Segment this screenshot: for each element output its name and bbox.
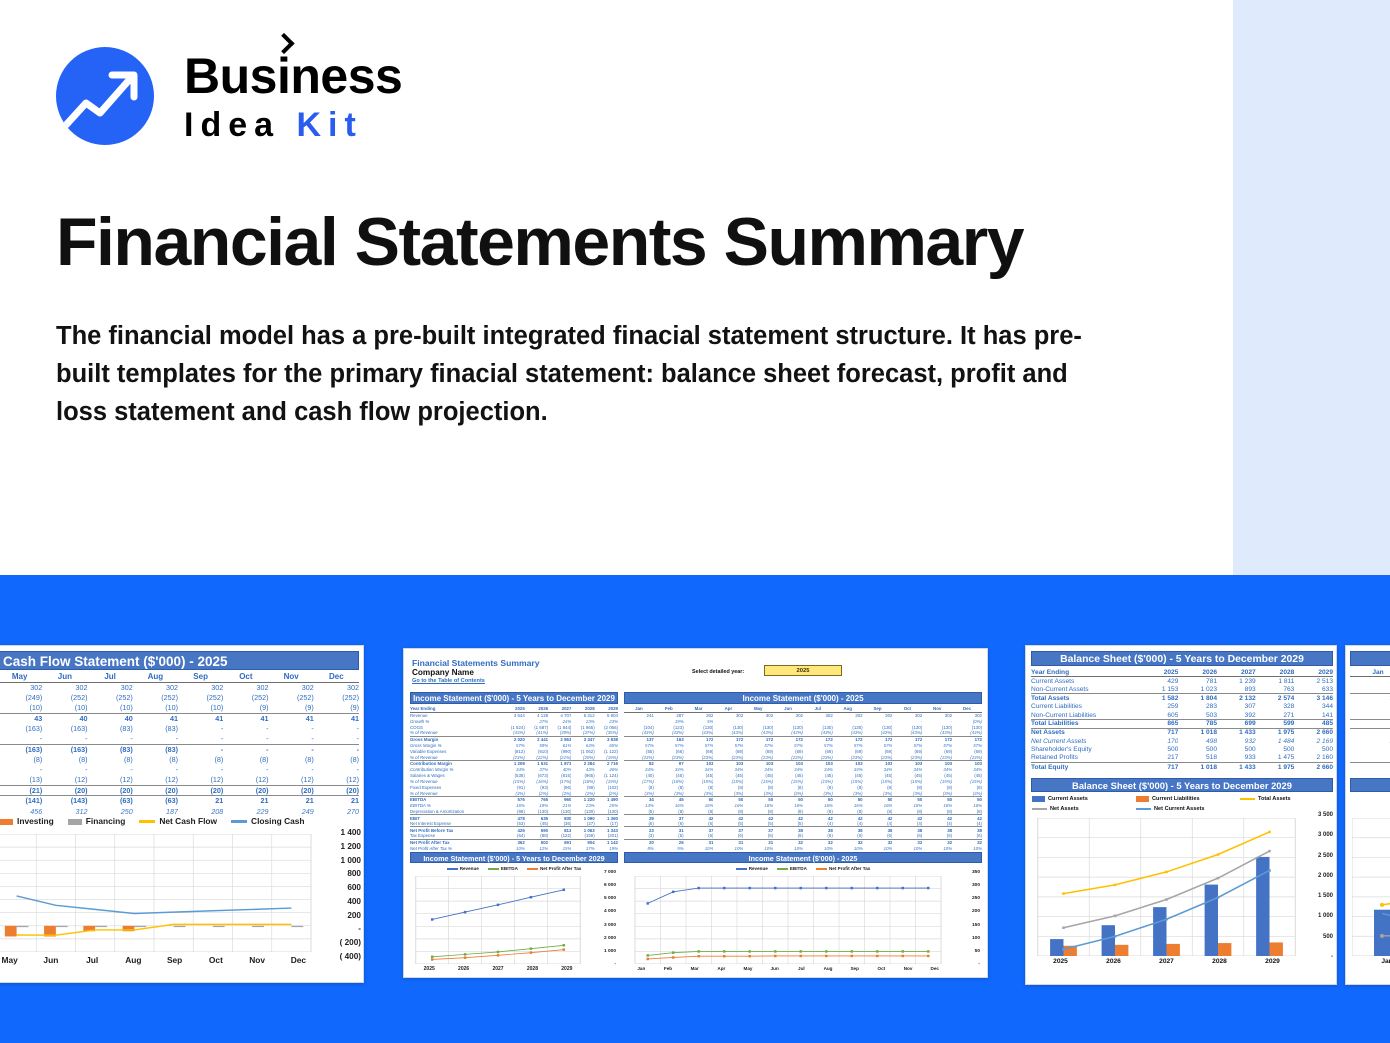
- legend-label: Revenue: [460, 866, 479, 871]
- table-of-contents-link[interactable]: Go to the Table of Contents: [412, 678, 485, 684]
- axis-tick-label: 100: [972, 936, 980, 941]
- balance-sheet-table-title: Balance Sheet ($'000) - 5 Years to Decem…: [1031, 651, 1333, 666]
- axis-tick-label: Apr: [708, 966, 735, 971]
- legend-item: Net Assets: [1032, 806, 1136, 812]
- legend-label: Financing: [86, 816, 126, 826]
- legend-item: Net Current Assets: [1136, 806, 1240, 812]
- workbook-title: Financial Statements Summary: [412, 658, 540, 668]
- table-row: (141)(143)(63)(63)21212121: [0, 796, 359, 806]
- legend-label: Net Cash Flow: [159, 816, 217, 826]
- balance-sheet-chart-plot: [1034, 818, 1299, 956]
- table-row: Net Profit After Tax %10%12%15%17%19%: [410, 845, 618, 851]
- axis-tick-label: 3 500: [1318, 812, 1333, 818]
- table-row: (8)(8)(8)(8)(8)(8)(8)(8): [0, 754, 359, 764]
- table-row: 500: [1350, 745, 1390, 754]
- axis-tick-label: Jul: [788, 966, 815, 971]
- table-row: Shareholder's Equity500500500500500: [1031, 745, 1333, 754]
- table-row: 512: [1350, 728, 1390, 737]
- table-row: 93: [1350, 702, 1390, 711]
- axis-tick-label: 200: [347, 911, 361, 920]
- legend-swatch: [816, 868, 827, 870]
- monthly-income-chart-legend: RevenueEBITDANet Profit After Tax: [624, 866, 982, 871]
- table-row: (13)(12)(12)(12)(12)(12)(12)(12): [0, 775, 359, 785]
- table-row: Current Liabilities259283307328344: [1031, 702, 1333, 711]
- axis-tick-label: Jul: [72, 955, 113, 969]
- legend-item: Current Liabilities: [1136, 796, 1240, 802]
- legend-label: Current Liabilities: [1152, 796, 1200, 802]
- cash-flow-x-axis: MayJunJulAugSepOctNovDec: [0, 955, 319, 969]
- axis-tick-label: 2028: [515, 966, 549, 972]
- axis-tick-label: Oct: [195, 955, 236, 969]
- axis-tick-label: Oct: [868, 966, 895, 971]
- cash-flow-month-header: Aug: [133, 672, 178, 682]
- table-row: Net Current Assets1704989321 4842 169: [1031, 737, 1333, 746]
- table-row: Salaries & Wages(538)(673)(815)(965)(1 1…: [410, 773, 618, 779]
- cash-flow-month-header: Jun: [42, 672, 87, 682]
- table-row: (10)(10)(10)(10)(10)(9)(9)(9): [0, 703, 359, 713]
- axis-tick-label: 2029: [550, 966, 584, 972]
- balance-sheet-x-axis: 20252026202720282029: [1034, 958, 1299, 965]
- screenshot-balance-sheet[interactable]: Balance Sheet ($'000) - 5 Years to Decem…: [1025, 645, 1337, 985]
- screenshot-cash-flow[interactable]: Cash Flow Statement ($'000) - 2025 MayJu…: [0, 645, 364, 983]
- legend-swatch: [68, 819, 82, 825]
- annual-income-x-axis: 20252026202720282029: [412, 966, 584, 972]
- annual-income-chart-title: Income Statement ($'000) - 5 Years to De…: [410, 852, 618, 863]
- axis-tick-label: Nov: [895, 966, 922, 971]
- axis-tick-label: 500: [1323, 934, 1333, 940]
- legend-label: EBITDA: [790, 866, 807, 871]
- legend-item: Net Cash Flow: [139, 816, 217, 826]
- axis-tick-label: Dec: [278, 955, 319, 969]
- legend-item: Revenue: [736, 866, 768, 871]
- table-row: (163)(163)(83)(83)----: [0, 723, 359, 733]
- balance-sheet-monthly-x-axis: Jan: [1352, 958, 1390, 965]
- legend-item: Net Profit After Tax: [527, 866, 581, 871]
- monthly-income-statement-table: JanFebMarAprMayJunJulAugSepOctNovDec2412…: [624, 706, 982, 851]
- upward-trend-arrow-icon: [56, 47, 154, 145]
- axis-tick-label: 800: [347, 869, 361, 878]
- legend-label: Total Assets: [1258, 796, 1291, 802]
- table-row: Retained Profits2175189331 4752 160: [1031, 754, 1333, 763]
- axis-tick-label: 50: [975, 949, 980, 954]
- axis-tick-label: Nov: [237, 955, 278, 969]
- table-row: Total Equity7171 0181 4331 9752 660: [1031, 763, 1333, 772]
- cash-flow-month-header: Jul: [88, 672, 133, 682]
- cash-flow-month-header: Oct: [223, 672, 268, 682]
- monthly-income-chart-title: Income Statement ($'000) - 2025: [624, 852, 982, 863]
- legend-label: Net Profit After Tax: [540, 866, 581, 871]
- legend-swatch: [527, 868, 538, 870]
- legend-label: Revenue: [749, 866, 768, 871]
- annual-income-y-axis: 7 0006 0005 0004 0003 0002 0001 000-: [586, 870, 618, 970]
- axis-tick-label: 2026: [1087, 958, 1140, 965]
- balance-sheet-chart-title: Balance Sheet ($'000) - 5 Years to Decem…: [1031, 778, 1333, 792]
- axis-tick-label: 400: [347, 897, 361, 906]
- page-title: Financial Statements Summary: [56, 205, 1176, 279]
- legend-item: Current Assets: [1032, 796, 1136, 802]
- table-row: --------: [0, 734, 359, 744]
- legend-item: Net Profit After Tax: [816, 866, 870, 871]
- legend-swatch: [1136, 796, 1149, 802]
- brand-name-primary: Business: [184, 49, 402, 103]
- monthly-income-y-axis: 35030025020015010050-: [950, 870, 982, 970]
- axis-tick-label: 2027: [481, 966, 515, 972]
- axis-tick-label: 5 000: [604, 896, 616, 901]
- cash-flow-month-header: Dec: [314, 672, 359, 682]
- legend-row: Net AssetsNet Current Assets: [1032, 804, 1332, 814]
- legend-label: Net Assets: [1050, 806, 1079, 812]
- page-description: The financial model has a pre-built inte…: [56, 317, 1096, 431]
- table-row: 12: [1350, 754, 1390, 763]
- axis-tick-label: Feb: [655, 966, 682, 971]
- legend-swatch: [1032, 808, 1047, 810]
- axis-tick-label: Sep: [154, 955, 195, 969]
- axis-tick-label: 1 200: [341, 842, 362, 851]
- axis-tick-label: Jun: [30, 955, 71, 969]
- table-row: Net Assets7171 0181 4331 9752 660: [1031, 728, 1333, 737]
- legend-item: Financing: [68, 816, 126, 826]
- balance-sheet-chart-legend: Current AssetsCurrent LiabilitiesTotal A…: [1032, 794, 1332, 814]
- axis-tick-label: 1 000: [341, 856, 362, 865]
- axis-tick-label: 2026: [446, 966, 480, 972]
- legend-swatch: [488, 868, 499, 870]
- legend-item: Closing Cash: [231, 816, 305, 826]
- brand-kit-text: Kit: [296, 106, 362, 144]
- company-name: Company Name: [412, 668, 474, 677]
- table-row: Non-Current Assets1 1531 023893763633: [1031, 685, 1333, 694]
- axis-tick-label: -: [1331, 954, 1333, 960]
- table-row: 692: [1350, 711, 1390, 720]
- legend-swatch: [0, 819, 13, 825]
- axis-tick-label: 2029: [1246, 958, 1299, 965]
- screenshot-balance-sheet-monthly[interactable]: Jan1 1741241 297936927865121 08150012512…: [1345, 645, 1390, 985]
- brand-name-secondary: Idea Kit: [184, 105, 402, 145]
- axis-tick-label: 6 000: [604, 883, 616, 888]
- table-header-row: MayJunJulAugSepOctNovDec: [0, 672, 359, 682]
- legend-swatch: [736, 868, 747, 870]
- hero-section: Business Idea Kit Financial Statements S…: [0, 0, 1390, 575]
- axis-tick-label: 1 400: [341, 828, 362, 837]
- legend-label: EBITDA: [501, 866, 518, 871]
- annual-income-statement-table: Year Ending20252026202720282029Revenue3 …: [410, 706, 618, 851]
- annual-income-chart-plot: [412, 876, 584, 964]
- monthly-income-statement-title: Income Statement ($'000) - 2025: [624, 692, 982, 704]
- balance-sheet-monthly-title: [1350, 651, 1390, 666]
- table-row: 124: [1350, 685, 1390, 694]
- table-row: 302302302302302302302302: [0, 682, 359, 692]
- table-row: (21)(20)(20)(20)(20)(20)(20)(20): [0, 785, 359, 795]
- table-row: (163)(163)(83)(83)----: [0, 744, 359, 754]
- table-row: Current Assets4297811 2391 8112 513: [1031, 677, 1333, 686]
- legend-item: Total Assets: [1240, 796, 1291, 802]
- legend-label: Net Profit After Tax: [829, 866, 870, 871]
- hero-side-panel: [1233, 0, 1390, 575]
- axis-tick-label: Sep: [841, 966, 868, 971]
- axis-tick-label: 250: [972, 896, 980, 901]
- balance-sheet-y-axis: 3 5003 0002 5002 0001 5001 000500-: [1301, 812, 1335, 962]
- axis-tick-label: Jan: [628, 966, 655, 971]
- axis-tick-label: 2 000: [604, 936, 616, 941]
- select-year-label: Select detailed year:: [692, 669, 744, 675]
- legend-swatch: [231, 820, 247, 823]
- legend-row: Current AssetsCurrent LiabilitiesTotal A…: [1032, 794, 1332, 804]
- table-row: Variable Expenses(812)(910)(990)(1 062)(…: [410, 748, 618, 754]
- table-row: Total Liabilities865785699599485: [1031, 720, 1333, 729]
- axis-tick-label: 1 500: [1318, 893, 1333, 899]
- legend-swatch: [777, 868, 788, 870]
- axis-tick-label: ( 200): [340, 938, 361, 947]
- table-row: Non-Current Liabilities605503392271141: [1031, 711, 1333, 720]
- monthly-income-chart-plot: [628, 876, 948, 964]
- cash-flow-chart-plot: [0, 834, 319, 952]
- screenshot-income-statement[interactable]: Financial Statements Summary Company Nam…: [403, 648, 988, 978]
- table-row: 1 081: [1350, 737, 1390, 746]
- axis-tick-label: 2027: [1140, 958, 1193, 965]
- legend-label: Current Assets: [1048, 796, 1088, 802]
- legend-item: Investing: [0, 816, 54, 826]
- legend-item: Revenue: [447, 866, 479, 871]
- legend-swatch: [139, 820, 155, 823]
- axis-tick-label: 600: [347, 883, 361, 892]
- axis-tick-label: 2 000: [1318, 873, 1333, 879]
- axis-tick-label: 1 000: [1318, 913, 1333, 919]
- table-row: 512: [1350, 763, 1390, 772]
- balance-sheet-monthly-chart-title: [1350, 778, 1390, 792]
- axis-tick-label: 2025: [412, 966, 446, 972]
- table-row: Total Assets1 5821 8042 1322 5743 146: [1031, 694, 1333, 703]
- axis-tick-label: -: [978, 962, 980, 967]
- brand-idea-text: Idea: [184, 106, 296, 144]
- axis-tick-label: May: [0, 955, 30, 969]
- legend-swatch: [1136, 808, 1151, 810]
- cash-flow-chart-legend: InvestingFinancingNet Cash FlowClosing C…: [0, 814, 355, 828]
- legend-swatch: [447, 868, 458, 870]
- legend-swatch: [1240, 798, 1255, 800]
- cash-flow-table: MayJunJulAugSepOctNovDec3023023023023023…: [0, 672, 359, 816]
- axis-tick-label: 4 000: [604, 909, 616, 914]
- table-row: 786: [1350, 720, 1390, 729]
- table-row: 1 174: [1350, 677, 1390, 686]
- axis-tick-label: -: [614, 962, 616, 967]
- table-row: 4340404141414141: [0, 713, 359, 723]
- axis-tick-label: 200: [972, 909, 980, 914]
- annual-income-statement-title: Income Statement ($'000) - 5 Years to De…: [410, 692, 618, 704]
- legend-label: Closing Cash: [251, 816, 305, 826]
- axis-tick-label: Mar: [681, 966, 708, 971]
- axis-tick-label: 350: [972, 870, 980, 875]
- axis-tick-label: 3 000: [1318, 832, 1333, 838]
- axis-tick-label: 3 000: [604, 923, 616, 928]
- table-row: 1 297: [1350, 694, 1390, 703]
- axis-tick-label: 2028: [1193, 958, 1246, 965]
- axis-tick-label: 150: [972, 923, 980, 928]
- axis-tick-label: 2025: [1034, 958, 1087, 965]
- legend-item: EBITDA: [488, 866, 518, 871]
- axis-tick-label: ( 400): [340, 952, 361, 961]
- axis-tick-label: 1 000: [604, 949, 616, 954]
- monthly-income-x-axis: JanFebMarAprMayJunJulAugSepOctNovDec: [628, 966, 948, 971]
- cash-flow-month-header: May: [0, 672, 42, 682]
- cash-flow-chart-title: Cash Flow Statement ($'000) - 2025: [0, 651, 359, 670]
- axis-tick-label: May: [735, 966, 762, 971]
- table-row: (249)(252)(252)(252)(252)(252)(252)(252): [0, 693, 359, 703]
- axis-tick-label: 300: [972, 883, 980, 888]
- axis-tick-label: -: [358, 924, 361, 933]
- table-row: Year Ending20252026202720282029: [1031, 668, 1333, 677]
- legend-swatch: [1032, 796, 1045, 802]
- axis-tick-label: Aug: [113, 955, 154, 969]
- table-row: 8%9%10%10%10%10%10%10%10%10%10%10%: [624, 845, 982, 851]
- cash-flow-month-header: Sep: [178, 672, 223, 682]
- axis-tick-label: Jun: [761, 966, 788, 971]
- cash-flow-y-axis: 1 4001 2001 000800600400200-( 200)( 400): [321, 828, 363, 958]
- axis-tick-label: 2 500: [1318, 853, 1333, 859]
- balance-sheet-monthly-table: Jan1 1741241 297936927865121 08150012512: [1350, 668, 1390, 771]
- axis-tick-label: Aug: [815, 966, 842, 971]
- legend-label: Net Current Assets: [1154, 806, 1204, 812]
- legend-label: Investing: [17, 816, 54, 826]
- balance-sheet-table: Year Ending20252026202720282029Current A…: [1031, 668, 1333, 771]
- legend-item: EBITDA: [777, 866, 807, 871]
- balance-sheet-monthly-chart-plot: [1352, 818, 1390, 956]
- table-header-row: Jan: [1350, 668, 1390, 677]
- cash-flow-month-header: Nov: [269, 672, 314, 682]
- axis-tick-label: Dec: [921, 966, 948, 971]
- brand-logo: Business Idea Kit: [56, 47, 476, 157]
- select-year-dropdown[interactable]: 2025: [764, 665, 842, 676]
- table-row: Contribution Margin1 2081 5311 8732 2842…: [410, 760, 618, 766]
- table-row: --------: [0, 765, 359, 775]
- axis-tick-label: 7 000: [604, 870, 616, 875]
